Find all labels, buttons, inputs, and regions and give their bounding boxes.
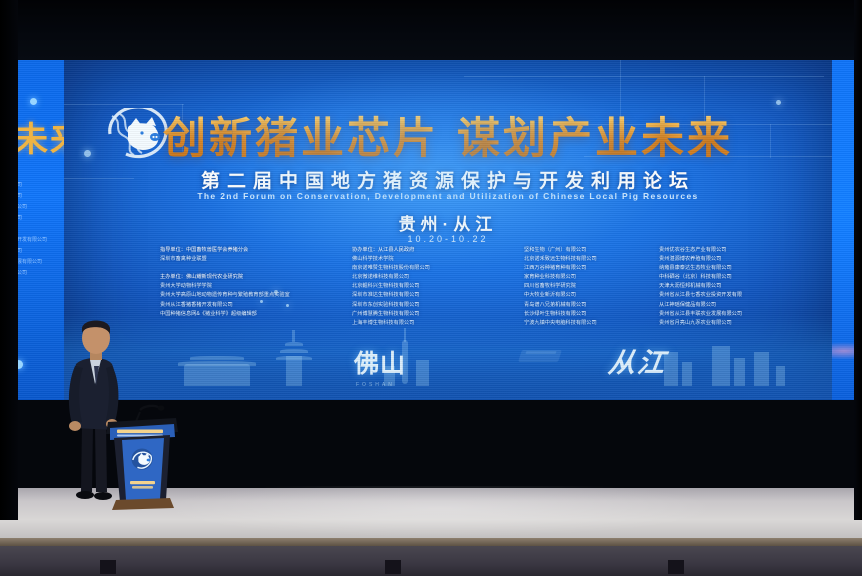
drum-tower-tier: [280, 349, 308, 353]
stage-apron: [0, 546, 862, 576]
main-led-screen: 创新猪业芯片 谋划产业未来 第二届中国地方猪资源保护与开发利用论坛 The 2n…: [64, 60, 832, 400]
drum-tower-tier: [285, 342, 303, 346]
hall-right-edge: [854, 0, 862, 520]
forum-subtitle-chinese: 第二届中国地方猪资源保护与开发利用论坛: [64, 166, 832, 193]
apron-vent: [668, 560, 684, 574]
building-silhouette: [776, 366, 785, 386]
pavilion-roof: [190, 356, 244, 360]
drum-tower-tier: [276, 356, 312, 360]
canton-tower-spire: [404, 328, 406, 342]
hall-ceiling: [0, 0, 862, 60]
drum-tower-spire: [292, 330, 295, 342]
wing-light-dot: [30, 98, 37, 105]
foshan-pinyin: FOSHAN: [356, 382, 395, 388]
building-silhouette: [416, 360, 429, 386]
apron-vent: [100, 560, 116, 574]
building-silhouette: [712, 346, 730, 386]
hall-left-edge: [0, 0, 18, 520]
building-silhouette: [734, 358, 745, 386]
city-silhouette-band: 佛山 FOSHAN 从江: [64, 314, 832, 400]
book-emblem: [526, 351, 557, 354]
congjiang-city-word: 从江: [606, 341, 669, 380]
forum-date: 10.20-10.22: [64, 234, 832, 244]
stage-floor-edge: [0, 538, 862, 546]
circuit-line: [464, 76, 824, 77]
apron-vent: [385, 560, 401, 574]
drum-tower-silhouette: [286, 356, 302, 386]
stage-scene: 业未来 论坛 有限公司 有限公司 技有限公司 有限公司 限公司 业投资开发有限公…: [0, 0, 862, 576]
building-silhouette: [754, 352, 769, 386]
foshan-city-word: 佛山: [354, 344, 406, 380]
forum-main-title: 创新猪业芯片 谋划产业未来: [64, 104, 832, 166]
pavilion-roof: [178, 361, 256, 366]
stage-floor-spotlight: [120, 486, 760, 542]
pavilion-silhouette: [184, 364, 250, 386]
podium: [104, 404, 180, 514]
forum-subtitle-english: The 2nd Forum on Conservation, Developme…: [64, 191, 832, 201]
forum-location: 贵州·从江: [64, 210, 832, 235]
building-silhouette: [682, 362, 692, 386]
